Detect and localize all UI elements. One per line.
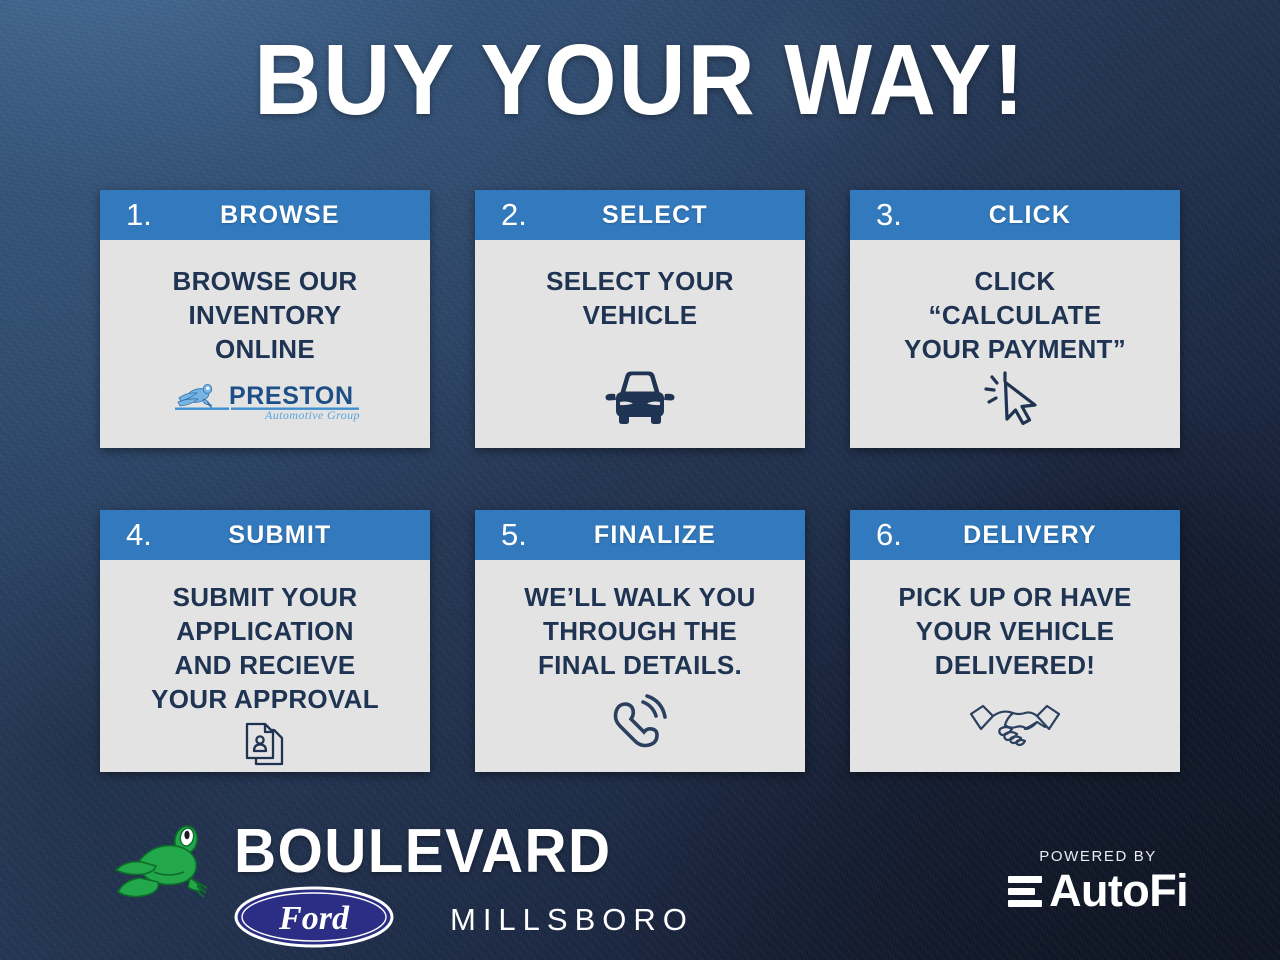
step-title: SELECT <box>527 201 795 230</box>
dealer-location: MILLSBORO <box>450 897 694 943</box>
dealer-name: BOULEVARD <box>234 820 666 884</box>
car-front-icon <box>596 364 684 436</box>
svg-text:PRESTON: PRESTON <box>229 382 354 410</box>
phone-ringing-icon-svg <box>607 692 673 754</box>
powered-by-label: POWERED BY <box>1008 848 1188 865</box>
step-card-browse[interactable]: 1. BROWSE BROWSE OUR INVENTORY ONLINE <box>100 190 430 448</box>
step-card-header: 2. SELECT <box>475 190 805 240</box>
application-document-icon <box>236 716 294 772</box>
autofi-bars-icon <box>1008 876 1042 907</box>
step-title: DELIVERY <box>902 521 1170 550</box>
step-card-click[interactable]: 3. CLICK CLICK “CALCULATE YOUR PAYMENT” <box>850 190 1180 448</box>
step-title: CLICK <box>902 201 1170 230</box>
step-card-header: 3. CLICK <box>850 190 1180 240</box>
step-card-delivery[interactable]: 6. DELIVERY PICK UP OR HAVE YOUR VEHICLE… <box>850 510 1180 772</box>
cursor-click-icon-svg <box>980 368 1050 430</box>
step-card-body: BROWSE OUR INVENTORY ONLINE <box>100 240 430 448</box>
step-card-body: WE’LL WALK YOU THROUGH THE FINAL DETAILS… <box>475 560 805 772</box>
phone-ringing-icon <box>607 692 673 760</box>
step-number: 3. <box>876 190 902 240</box>
steps-grid: 1. BROWSE BROWSE OUR INVENTORY ONLINE <box>100 190 1180 772</box>
step-description: WE’LL WALK YOU THROUGH THE FINAL DETAILS… <box>524 580 755 682</box>
footer: BOULEVARD Ford MILLSBORO POWERED BY <box>0 810 1280 960</box>
handshake-icon-svg <box>967 696 1063 754</box>
step-title: BROWSE <box>152 201 420 230</box>
car-front-icon-svg <box>596 364 684 430</box>
autofi-wordmark: AutoFi <box>1049 867 1188 915</box>
step-number: 4. <box>126 510 152 560</box>
step-description: CLICK “CALCULATE YOUR PAYMENT” <box>904 264 1126 366</box>
step-card-select[interactable]: 2. SELECT SELECT YOUR VEHICLE <box>475 190 805 448</box>
handshake-icon <box>967 696 1063 760</box>
page-title: BUY YOUR WAY! <box>45 28 1235 132</box>
step-description: PICK UP OR HAVE YOUR VEHICLE DELIVERED! <box>898 580 1131 682</box>
step-card-body: SELECT YOUR VEHICLE <box>475 240 805 448</box>
step-description: SUBMIT YOUR APPLICATION AND RECIEVE YOUR… <box>151 580 379 716</box>
step-card-body: PICK UP OR HAVE YOUR VEHICLE DELIVERED! <box>850 560 1180 772</box>
document-person-icon-svg <box>236 716 294 772</box>
boulevard-ford-logo[interactable]: BOULEVARD Ford MILLSBORO <box>110 820 694 953</box>
step-description: BROWSE OUR INVENTORY ONLINE <box>173 264 358 366</box>
ford-oval-logo: Ford <box>234 886 394 953</box>
frog-icon-svg <box>110 820 228 926</box>
promo-poster: BUY YOUR WAY! 1. BROWSE BROWSE OUR INVEN… <box>0 0 1280 960</box>
step-number: 5. <box>501 510 527 560</box>
step-number: 6. <box>876 510 902 560</box>
preston-automotive-group-logo: PRESTON Automotive Group <box>167 378 363 436</box>
step-card-header: 1. BROWSE <box>100 190 430 240</box>
step-card-header: 4. SUBMIT <box>100 510 430 560</box>
step-title: SUBMIT <box>152 521 420 550</box>
green-frog-mascot-icon <box>110 820 228 931</box>
step-card-body: CLICK “CALCULATE YOUR PAYMENT” <box>850 240 1180 448</box>
svg-text:Automotive Group: Automotive Group <box>264 408 360 422</box>
preston-logo-svg: PRESTON Automotive Group <box>167 378 363 422</box>
step-card-header: 5. FINALIZE <box>475 510 805 560</box>
step-description: SELECT YOUR VEHICLE <box>546 264 734 332</box>
step-title: FINALIZE <box>527 521 795 550</box>
ford-wordmark: Ford <box>278 900 350 937</box>
autofi-logo[interactable]: POWERED BY AutoFi <box>1008 848 1188 915</box>
step-card-submit[interactable]: 4. SUBMIT SUBMIT YOUR APPLICATION AND RE… <box>100 510 430 772</box>
step-number: 2. <box>501 190 527 240</box>
step-number: 1. <box>126 190 152 240</box>
step-card-body: SUBMIT YOUR APPLICATION AND RECIEVE YOUR… <box>100 560 430 772</box>
mouse-cursor-click-icon <box>980 368 1050 436</box>
step-card-header: 6. DELIVERY <box>850 510 1180 560</box>
ford-logo-svg: Ford <box>234 886 394 948</box>
step-card-finalize[interactable]: 5. FINALIZE WE’LL WALK YOU THROUGH THE F… <box>475 510 805 772</box>
